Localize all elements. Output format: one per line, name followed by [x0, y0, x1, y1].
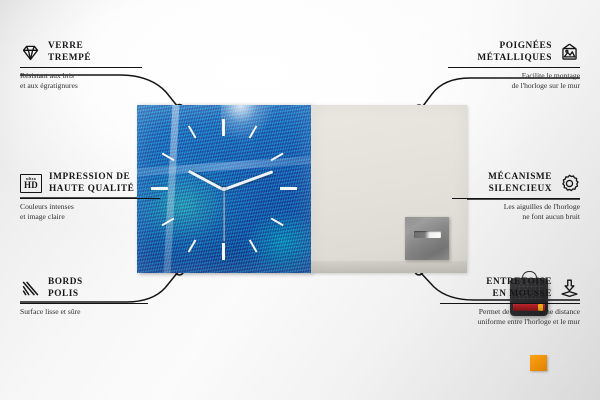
callout-verre-trempe: Verre trempé Résistant aux bris et aux é…: [20, 41, 142, 90]
callout-subtitle: Surface lisse et sûre: [20, 307, 148, 317]
callout-title: Poignées métalliques: [477, 41, 552, 64]
callout-divider: [452, 198, 580, 199]
callout-title: Impression de haute qualité: [49, 172, 134, 195]
callout-divider: [448, 67, 580, 68]
callout-divider: [440, 303, 580, 304]
press-down-pad-icon: [559, 278, 580, 299]
ultra-hd-main-label: HD: [24, 181, 38, 190]
ultra-hd-badge-icon: ultra HD: [20, 174, 42, 193]
callout-title: Bords polis: [48, 277, 83, 300]
callout-title: Entretoise en mousse: [486, 277, 552, 300]
callout-divider: [20, 303, 148, 304]
clock-front-glass-panel: [137, 105, 311, 273]
glass-glare: [221, 105, 311, 182]
callout-header: Bords polis: [20, 277, 148, 300]
callout-header: Mécanisme silencieux: [452, 172, 580, 195]
callout-mecanisme-silencieux: Mécanisme silencieux Les aiguilles de l'…: [452, 172, 580, 221]
callout-header: Verre trempé: [20, 41, 142, 64]
product-image-wall-clock: [137, 105, 467, 273]
callout-subtitle: Permet de maintenir une distance uniform…: [440, 307, 580, 326]
callout-title: Verre trempé: [48, 41, 91, 64]
polished-edges-icon: [20, 278, 41, 299]
callout-header: ultra HD Impression de haute qualité: [20, 172, 160, 195]
callout-divider: [20, 198, 160, 199]
framed-picture-icon: [559, 42, 580, 63]
callout-divider: [20, 67, 142, 68]
callout-subtitle: Les aiguilles de l'horloge ne font aucun…: [452, 202, 580, 221]
hanger-keyhole-slot: [414, 231, 441, 238]
gear-icon: [559, 173, 580, 194]
back-panel-bottom-band: [311, 261, 467, 273]
callout-header: Entretoise en mousse: [440, 277, 580, 300]
callout-subtitle: Résistant aux bris et aux égratignures: [20, 71, 142, 90]
callout-bords-polis: Bords polis Surface lisse et sûre: [20, 277, 148, 317]
foam-spacer: [530, 355, 547, 371]
callout-subtitle: Facilite le montage de l'horloge sur le …: [448, 71, 580, 90]
callout-impression-haute-qualite: ultra HD Impression de haute qualité Cou…: [20, 172, 160, 221]
callout-poignees-metalliques: Poignées métalliques Facilite le montage…: [448, 41, 580, 90]
callout-title: Mécanisme silencieux: [488, 172, 552, 195]
infographic-stage: Verre trempé Résistant aux bris et aux é…: [0, 0, 600, 400]
callout-header: Poignées métalliques: [448, 41, 580, 64]
diamond-icon: [20, 42, 41, 63]
callout-subtitle: Couleurs intenses et image claire: [20, 202, 160, 221]
metal-hanger-plate: [405, 217, 449, 260]
callout-entretoise-en-mousse: Entretoise en mousse Permet de maintenir…: [440, 277, 580, 326]
